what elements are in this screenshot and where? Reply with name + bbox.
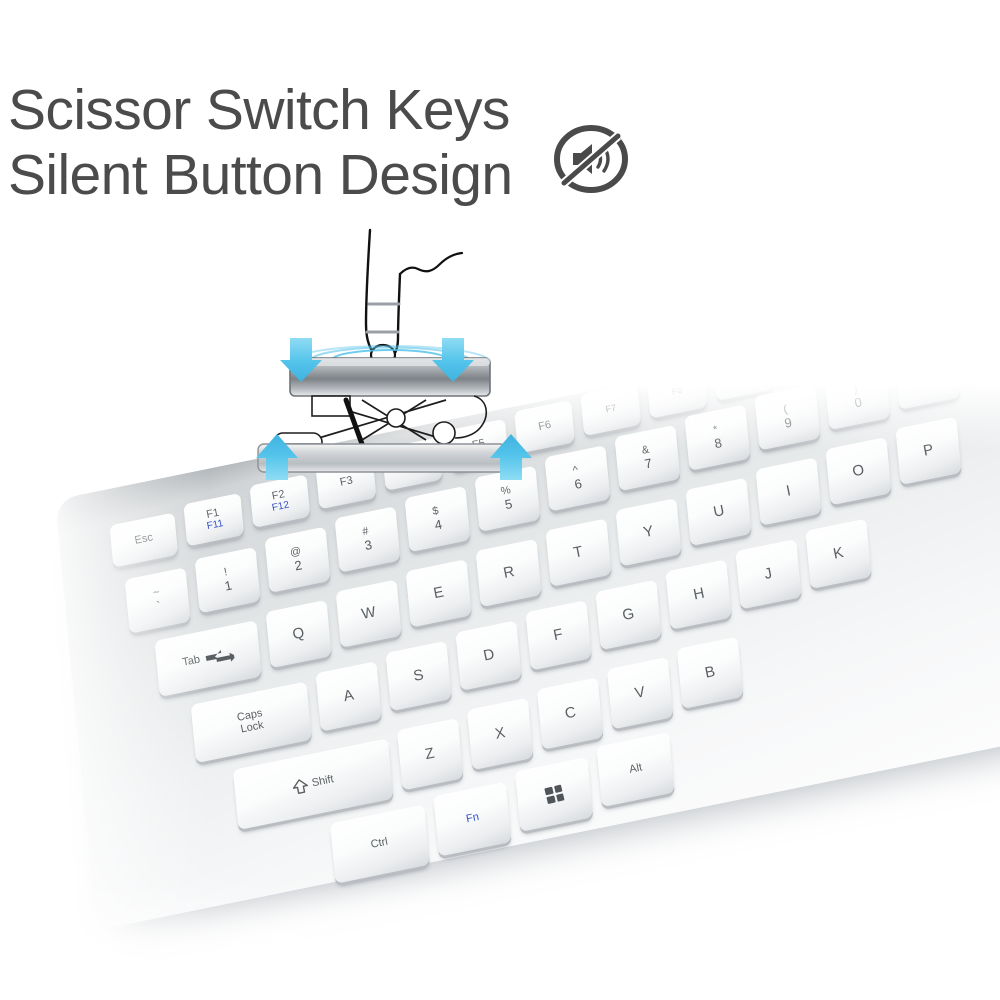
- key-v[interactable]: V: [607, 657, 674, 729]
- key-1[interactable]: ! 1: [195, 547, 261, 613]
- key-k[interactable]: K: [805, 519, 871, 589]
- shift-up-arrow-icon: [291, 777, 310, 796]
- key-8[interactable]: * 8: [684, 404, 750, 470]
- key-f[interactable]: F: [525, 600, 591, 670]
- key-f7[interactable]: F7: [580, 383, 641, 437]
- key-4[interactable]: $ 4: [405, 486, 471, 552]
- key-f1[interactable]: F1 F11: [183, 493, 244, 547]
- key-i[interactable]: I: [755, 457, 821, 525]
- key-caps-lock[interactable]: Caps Lock: [191, 682, 312, 764]
- speaker-muted-icon: [551, 119, 631, 199]
- key-backtick[interactable]: ~ `: [125, 567, 191, 633]
- key-alt[interactable]: Alt: [596, 732, 674, 807]
- scissor-switch-cross-section: [250, 228, 580, 486]
- product-banner: Scissor Switch Keys Silent Button Design: [0, 0, 1000, 1000]
- key-g[interactable]: G: [595, 580, 661, 650]
- key-p[interactable]: P: [895, 417, 961, 485]
- key-c[interactable]: C: [537, 677, 604, 749]
- key-s[interactable]: S: [385, 641, 451, 711]
- key-u[interactable]: U: [685, 478, 751, 546]
- key-7[interactable]: & 7: [614, 425, 680, 491]
- key-esc[interactable]: Esc: [109, 513, 178, 568]
- windows-logo-icon: [544, 785, 564, 805]
- key-x[interactable]: X: [467, 698, 534, 770]
- arrow-up-right: [490, 434, 532, 480]
- key-tab[interactable]: Tab: [155, 620, 262, 697]
- key-b[interactable]: B: [677, 637, 744, 709]
- key-a[interactable]: A: [315, 661, 381, 731]
- key-o[interactable]: O: [825, 437, 891, 505]
- key-fn[interactable]: Fn: [433, 782, 511, 857]
- key-2[interactable]: @ 2: [265, 527, 331, 593]
- key-z[interactable]: Z: [397, 718, 464, 790]
- key-ctrl[interactable]: Ctrl: [330, 805, 430, 884]
- key-minus[interactable]: _ -: [894, 380, 960, 410]
- key-t[interactable]: T: [546, 518, 612, 586]
- key-e[interactable]: E: [406, 559, 472, 627]
- key-3[interactable]: # 3: [335, 506, 401, 572]
- key-r[interactable]: R: [476, 539, 542, 607]
- tab-arrows-icon: [203, 646, 236, 668]
- key-d[interactable]: D: [455, 620, 521, 690]
- scissor-mechanism: [274, 396, 486, 444]
- key-h[interactable]: H: [665, 559, 731, 629]
- key-0[interactable]: ) 0: [824, 380, 890, 430]
- key-y[interactable]: Y: [616, 498, 682, 566]
- key-9[interactable]: ( 9: [754, 384, 820, 450]
- key-w[interactable]: W: [336, 580, 402, 648]
- key-j[interactable]: J: [735, 539, 801, 609]
- key-q[interactable]: Q: [266, 600, 332, 668]
- key-windows[interactable]: [515, 757, 593, 832]
